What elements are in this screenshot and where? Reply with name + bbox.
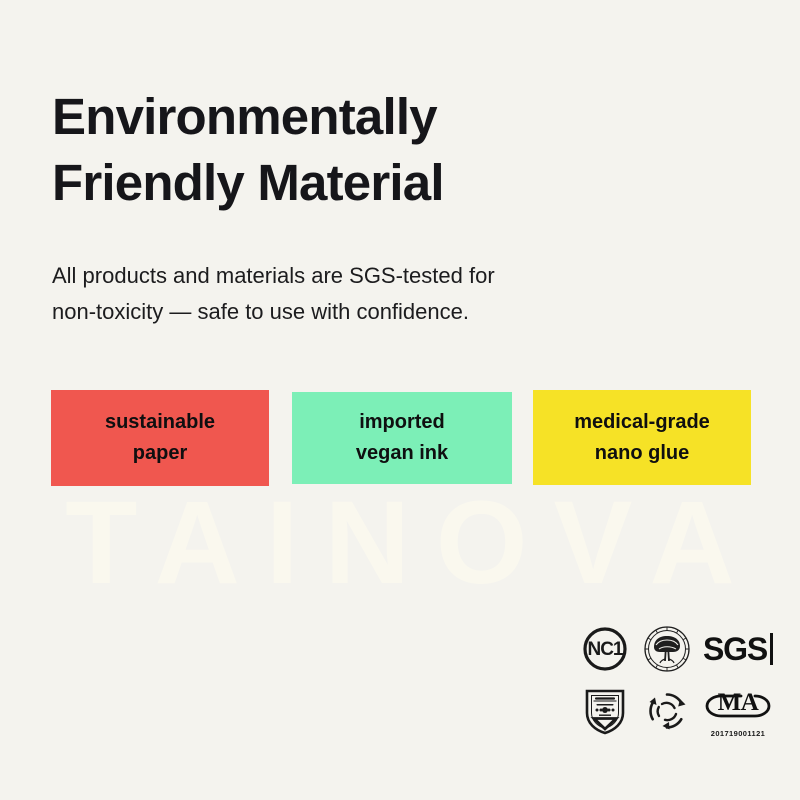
badge-sustainable-paper: sustainable paper (51, 390, 269, 486)
nc1-certification-label: NC1 (587, 640, 622, 659)
badge-imported-vegan-ink-line-1: imported (359, 407, 445, 438)
page-subtitle-line-1: All products and materials are SGS-teste… (52, 258, 652, 294)
badge-imported-vegan-ink-line-2: vegan ink (356, 438, 448, 469)
cma-certification-icon: MA 201719001121 (698, 680, 778, 742)
cma-certificate-number: 201719001121 (711, 729, 765, 738)
badge-medical-grade-nano-glue: medical-grade nano glue (533, 390, 751, 485)
material-badge-row: sustainable paper imported vegan ink med… (51, 390, 753, 488)
brand-watermark: TAINOVA (0, 484, 800, 602)
page-subtitle-line-2: non-toxicity — safe to use with confiden… (52, 294, 652, 330)
sgs-certification-label: SGS (703, 633, 773, 665)
cma-certification-label: MA (718, 690, 759, 715)
sgs-certification-icon: SGS (698, 618, 778, 680)
badge-sustainable-paper-line-2: paper (133, 438, 187, 469)
nc1-certification-icon: NC1 (574, 618, 636, 680)
badge-medical-grade-nano-glue-line-2: nano glue (595, 438, 689, 469)
badge-sustainable-paper-line-1: sustainable (105, 407, 215, 438)
page-subtitle: All products and materials are SGS-teste… (52, 258, 652, 329)
badge-medical-grade-nano-glue-line-1: medical-grade (574, 407, 710, 438)
page-title-line-2: Friendly Material (52, 150, 692, 216)
page-title: Environmentally Friendly Material (52, 84, 692, 217)
certification-logo-grid: NC1 (574, 618, 778, 742)
recycling-icon (636, 680, 698, 742)
page-title-line-1: Environmentally (52, 84, 692, 150)
shield-certification-icon (574, 680, 636, 742)
forestry-seal-icon (636, 618, 698, 680)
badge-imported-vegan-ink: imported vegan ink (292, 392, 512, 484)
